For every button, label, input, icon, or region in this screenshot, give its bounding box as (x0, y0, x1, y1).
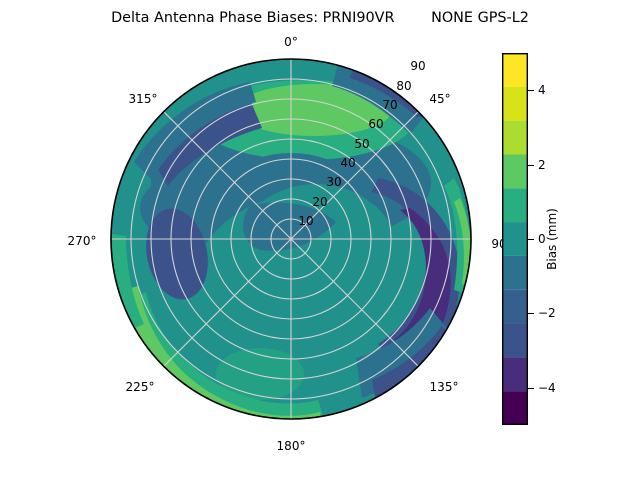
colorbar-band-0 (502, 391, 528, 425)
colorbar-tick-label-m4: −4 (538, 381, 556, 395)
polar-plot-svg (110, 58, 472, 420)
figure-canvas: Delta Antenna Phase Biases: PRNI90VR NON… (0, 0, 640, 480)
colorbar-tick-mark-4 (528, 90, 534, 91)
colorbar-gradient (502, 53, 528, 425)
colorbar-band-2 (502, 324, 528, 358)
polar-angular-label-0: 0° (284, 35, 298, 49)
colorbar-tick-label-m2: −2 (538, 306, 556, 320)
colorbar-tick-mark-m2 (528, 313, 534, 314)
colorbar-band-1 (502, 357, 528, 391)
colorbar-band-8 (502, 121, 528, 155)
polar-angular-label-45: 45° (429, 92, 450, 106)
polar-radial-label-70: 70 (382, 98, 397, 112)
polar-radial-label-50: 50 (354, 137, 369, 151)
colorbar-tick-label-4: 4 (538, 83, 546, 97)
polar-angular-label-315: 315° (129, 92, 158, 106)
figure-title: Delta Antenna Phase Biases: PRNI90VR NON… (0, 10, 640, 26)
polar-radial-label-20: 20 (312, 195, 327, 209)
polar-grid (111, 59, 471, 419)
colorbar-band-10 (502, 53, 528, 87)
colorbar-tick-label-2: 2 (538, 158, 546, 172)
polar-radial-label-40: 40 (340, 156, 355, 170)
colorbar: 4 2 0 −2 −4 (502, 53, 528, 425)
colorbar-band-4 (502, 256, 528, 290)
polar-angular-label-270: 270° (68, 234, 97, 248)
colorbar-band-9 (502, 87, 528, 121)
colorbar-band-5 (502, 222, 528, 256)
polar-radial-label-90: 90 (410, 59, 425, 73)
polar-radial-label-10: 10 (298, 214, 313, 228)
polar-radial-label-80: 80 (396, 79, 411, 93)
polar-radial-label-60: 60 (368, 117, 383, 131)
colorbar-band-3 (502, 290, 528, 324)
polar-angular-label-225: 225° (126, 380, 155, 394)
polar-angular-label-180: 180° (277, 439, 306, 453)
colorbar-band-6 (502, 188, 528, 222)
colorbar-tick-mark-m4 (528, 388, 534, 389)
colorbar-axis-label: Bias (mm) (545, 208, 559, 270)
colorbar-band-7 (502, 154, 528, 188)
colorbar-tick-mark-2 (528, 165, 534, 166)
polar-axes: 0° 45° 90 135° 180° 225° 270° 315° 10 20… (110, 58, 472, 420)
colorbar-tick-mark-0 (528, 239, 534, 240)
polar-radial-label-30: 30 (326, 175, 341, 189)
polar-angular-label-135: 135° (430, 380, 459, 394)
